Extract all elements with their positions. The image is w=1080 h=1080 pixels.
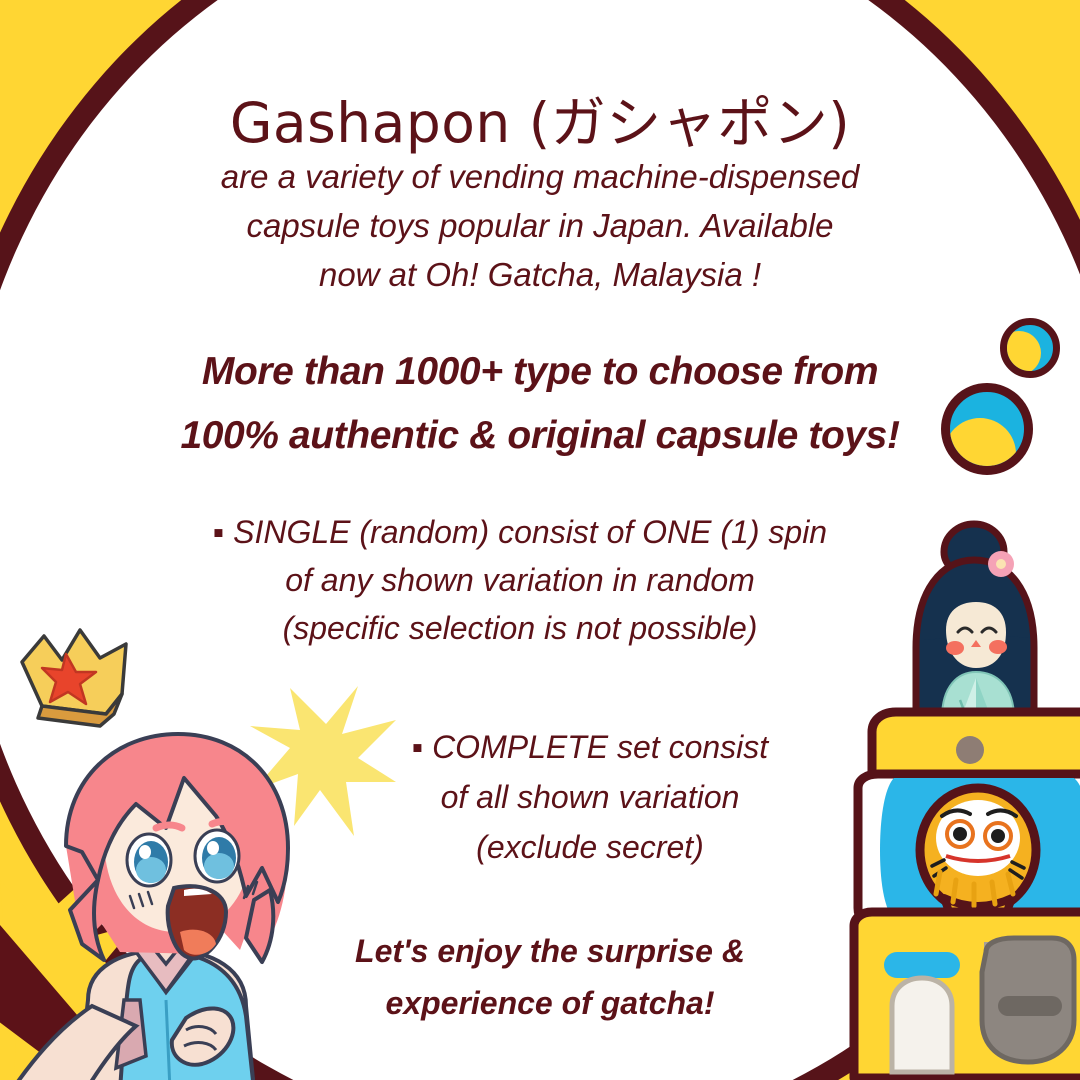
closing-paragraph: Let's enjoy the surprise & experience of…	[280, 925, 820, 1029]
closing-line-1: Let's enjoy the surprise &	[280, 925, 820, 977]
page-title: Gashapon (ガシャポン)	[0, 78, 1080, 158]
lead-paragraph: are a variety of vending machine-dispens…	[118, 152, 962, 299]
complete-line-1-text: COMPLETE set consist	[432, 729, 768, 765]
surprised-girl-illustration	[0, 700, 360, 1080]
poster-canvas: Gashapon (ガシャポン) are a variety of vendin…	[0, 0, 1080, 1080]
claim-line-2: 100% authentic & original capsule toys!	[60, 404, 1020, 468]
bullet-marker: ▪	[412, 729, 423, 765]
lead-line-1: are a variety of vending machine-dispens…	[118, 152, 962, 201]
closing-line-2: experience of gatcha!	[280, 977, 820, 1029]
claim-paragraph: More than 1000+ type to choose from 100%…	[60, 340, 1020, 468]
kokeshi-doll-illustration	[916, 524, 1034, 736]
complete-option-paragraph: ▪ COMPLETE set consist of all shown vari…	[330, 722, 850, 872]
complete-line-2: of all shown variation	[330, 772, 850, 822]
bullet-marker: ▪	[213, 514, 224, 550]
gashapon-machine-illustration	[818, 520, 1080, 1080]
daruma-capsule-icon	[920, 788, 1036, 920]
complete-line-3: (exclude secret)	[330, 822, 850, 872]
lead-line-2: capsule toys popular in Japan. Available	[118, 201, 962, 250]
single-line-1-text: SINGLE (random) consist of ONE (1) spin	[233, 514, 827, 550]
claim-line-1: More than 1000+ type to choose from	[60, 340, 1020, 404]
complete-line-1: ▪ COMPLETE set consist	[330, 722, 850, 772]
lead-line-3: now at Oh! Gatcha, Malaysia !	[118, 250, 962, 299]
